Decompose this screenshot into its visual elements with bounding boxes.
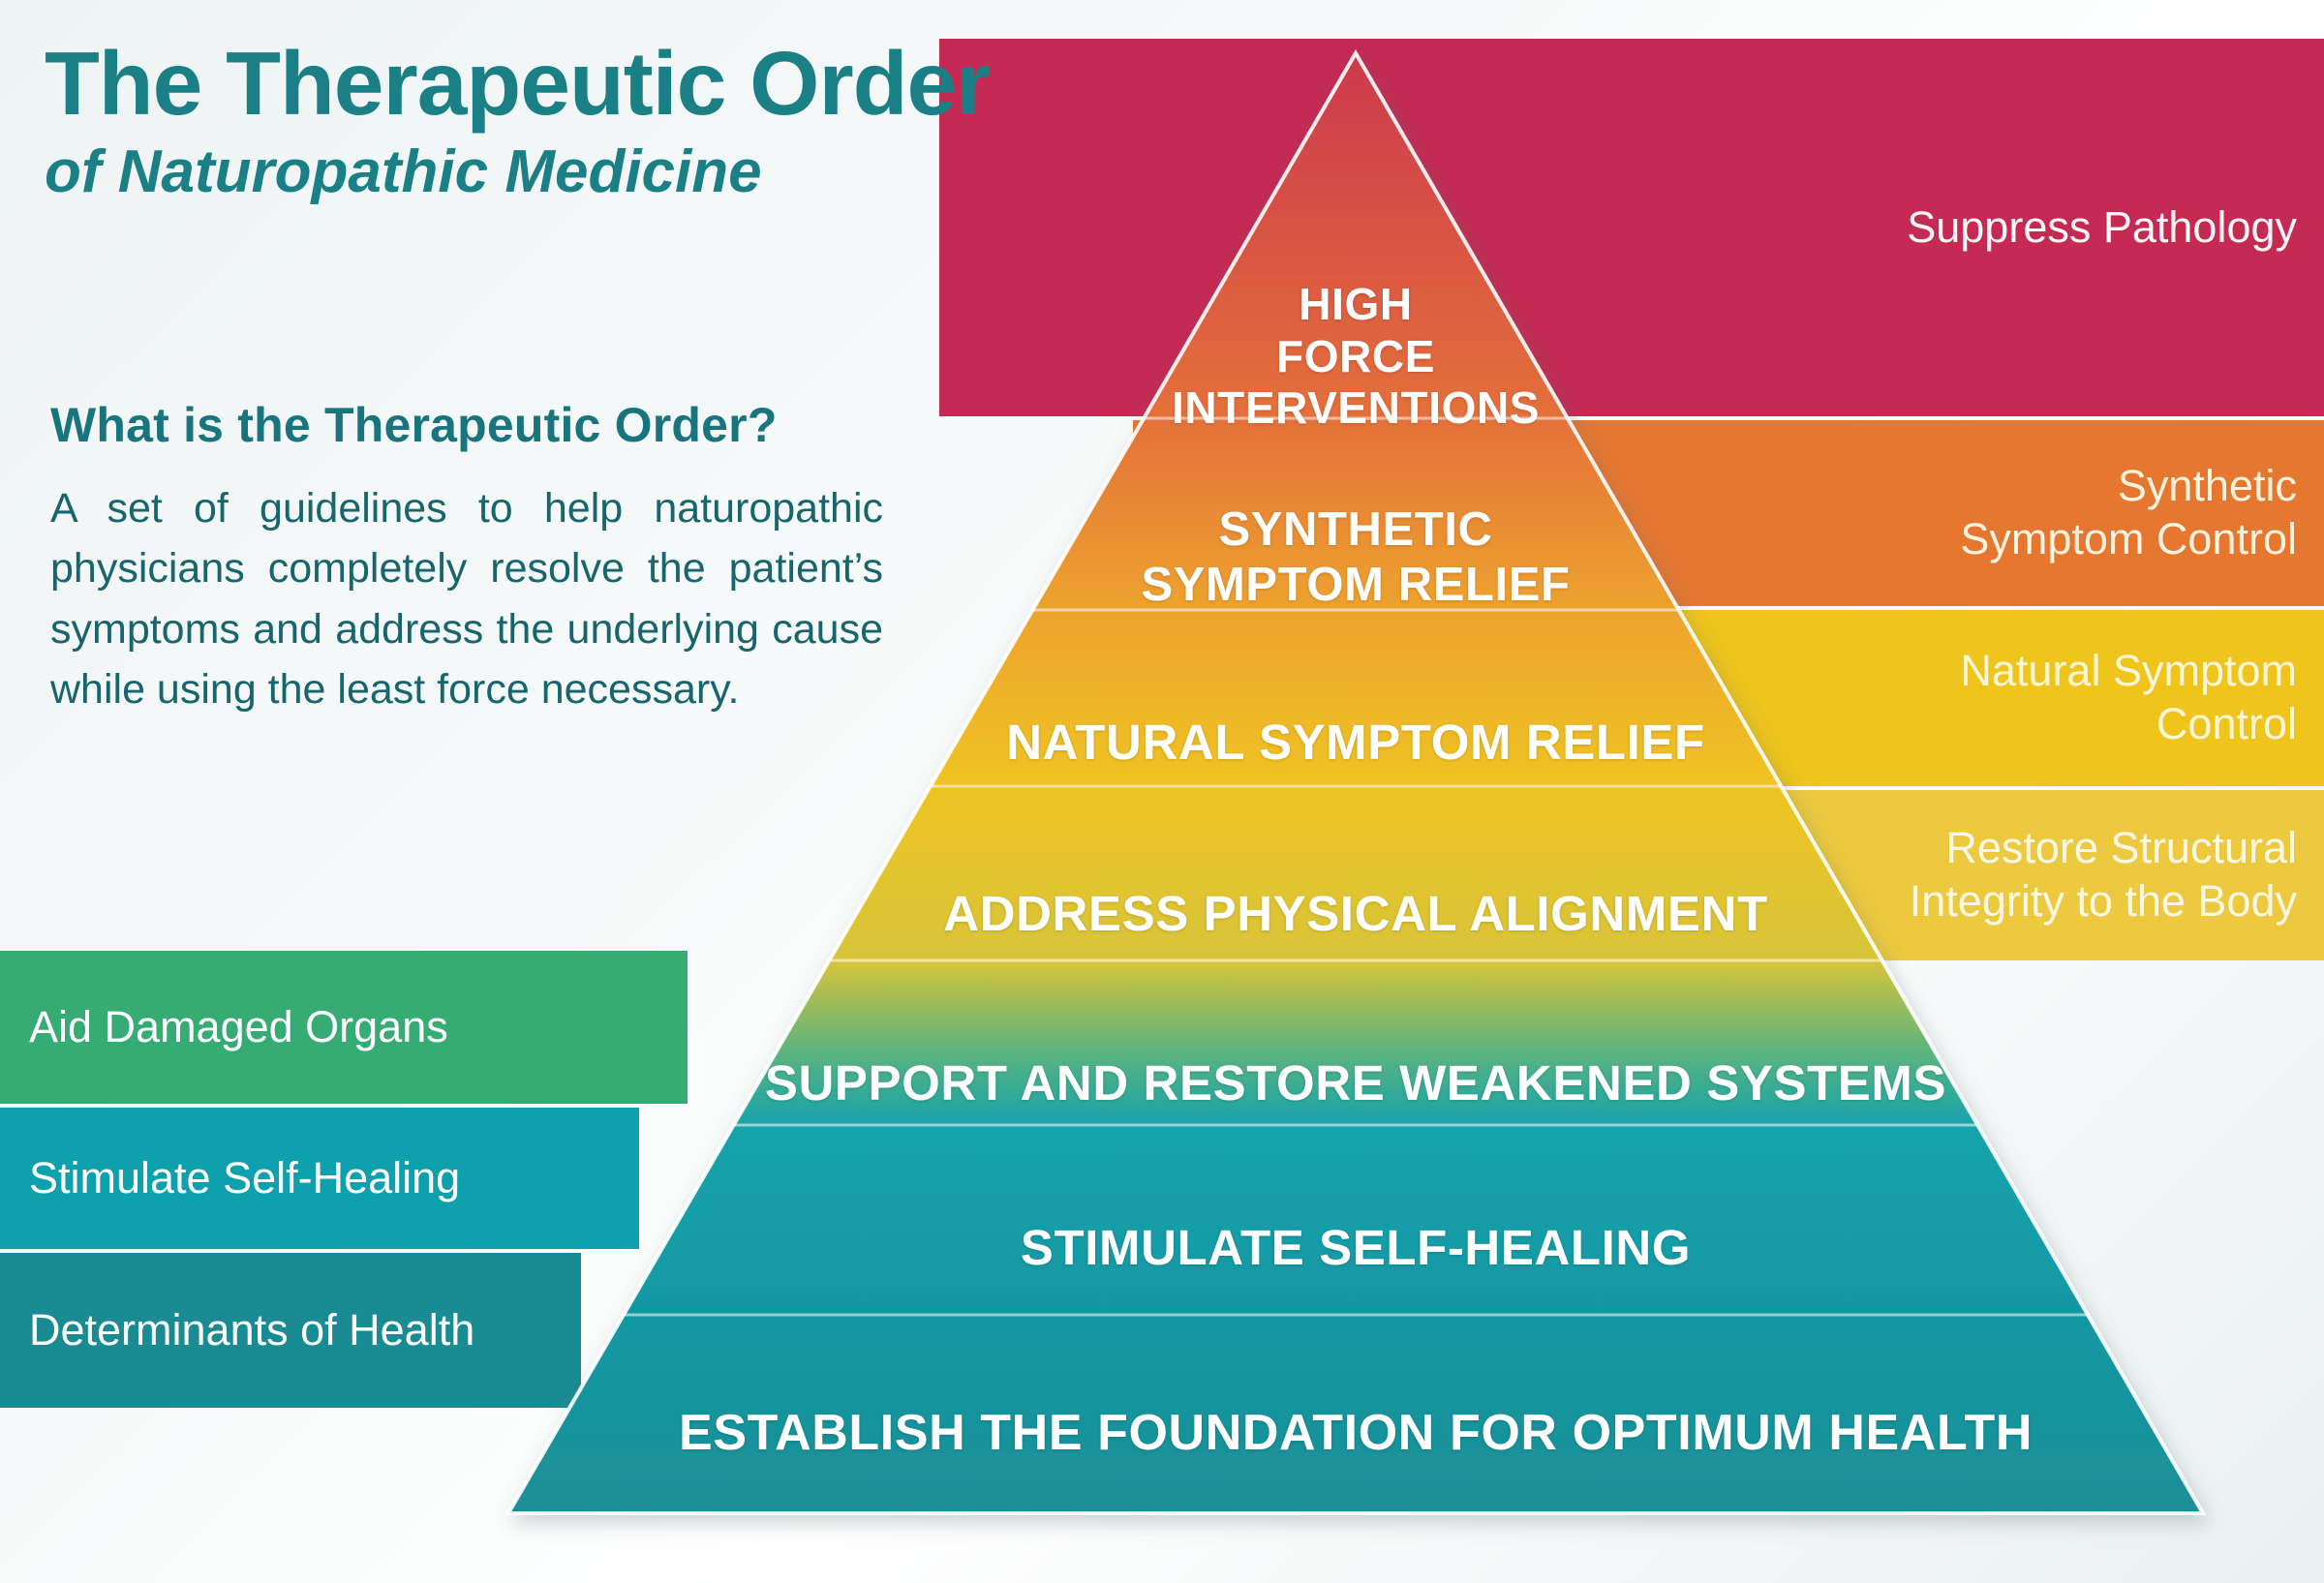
left-band-aid-damaged-organs: Aid Damaged Organs: [0, 951, 688, 1104]
intro-heading: What is the Therapeutic Order?: [50, 397, 883, 453]
pyramid-label-support-restore-weakened-systems: SUPPORT AND RESTORE WEAKENED SYSTEMS: [600, 997, 2111, 1111]
pyramid-label-natural-symptom-relief: NATURAL SYMPTOM RELIEF: [833, 656, 1879, 771]
pyramid-label-establish-foundation: ESTABLISH THE FOUNDATION FOR OPTIMUM HEA…: [504, 1346, 2208, 1463]
right-band-label: Suppress Pathology: [1907, 201, 2297, 255]
intro-block: What is the Therapeutic Order? A set of …: [50, 397, 883, 719]
left-band-label: Stimulate Self-Healing: [29, 1152, 460, 1205]
tier-label-text: STIMULATE SELF-HEALING: [1021, 1220, 1691, 1275]
pyramid-label-synthetic-symptom-relief: SYNTHETIC SYMPTOM RELIEF: [978, 447, 1733, 612]
tier-label-text: ESTABLISH THE FOUNDATION FOR OPTIMUM HEA…: [679, 1405, 2033, 1461]
tier-label-text: NATURAL SYMPTOM RELIEF: [1006, 715, 1705, 770]
pyramid-label-high-force-interventions: HIGH FORCE INTERVENTIONS: [1114, 228, 1598, 434]
intro-body: A set of guidelines to help naturopathic…: [50, 478, 883, 719]
tier-label-text: SYNTHETIC SYMPTOM RELIEF: [1141, 503, 1570, 611]
pyramid-label-address-physical-alignment: ADDRESS PHYSICAL ALIGNMENT: [736, 828, 1975, 942]
title-secondary: of Naturopathic Medicine: [45, 138, 1303, 205]
left-band-label: Aid Damaged Organs: [29, 1001, 448, 1054]
right-band-label: Synthetic Symptom Control: [1960, 460, 2297, 566]
tier-label-text: SUPPORT AND RESTORE WEAKENED SYSTEMS: [765, 1055, 1946, 1111]
pyramid-label-stimulate-self-healing: STIMULATE SELF-HEALING: [542, 1162, 2169, 1276]
tier-label-text: ADDRESS PHYSICAL ALIGNMENT: [943, 886, 1768, 941]
page-title: The Therapeutic Order of Naturopathic Me…: [45, 39, 1303, 205]
tier-label-text: HIGH FORCE INTERVENTIONS: [1172, 279, 1540, 433]
right-band-label: Natural Symptom Control: [1960, 645, 2297, 751]
infographic-canvas: Suppress Pathology Synthetic Symptom Con…: [0, 0, 2324, 1583]
left-band-label: Determinants of Health: [29, 1304, 474, 1357]
left-band-determinants-of-health: Determinants of Health: [0, 1253, 581, 1408]
title-primary: The Therapeutic Order: [45, 39, 1303, 129]
